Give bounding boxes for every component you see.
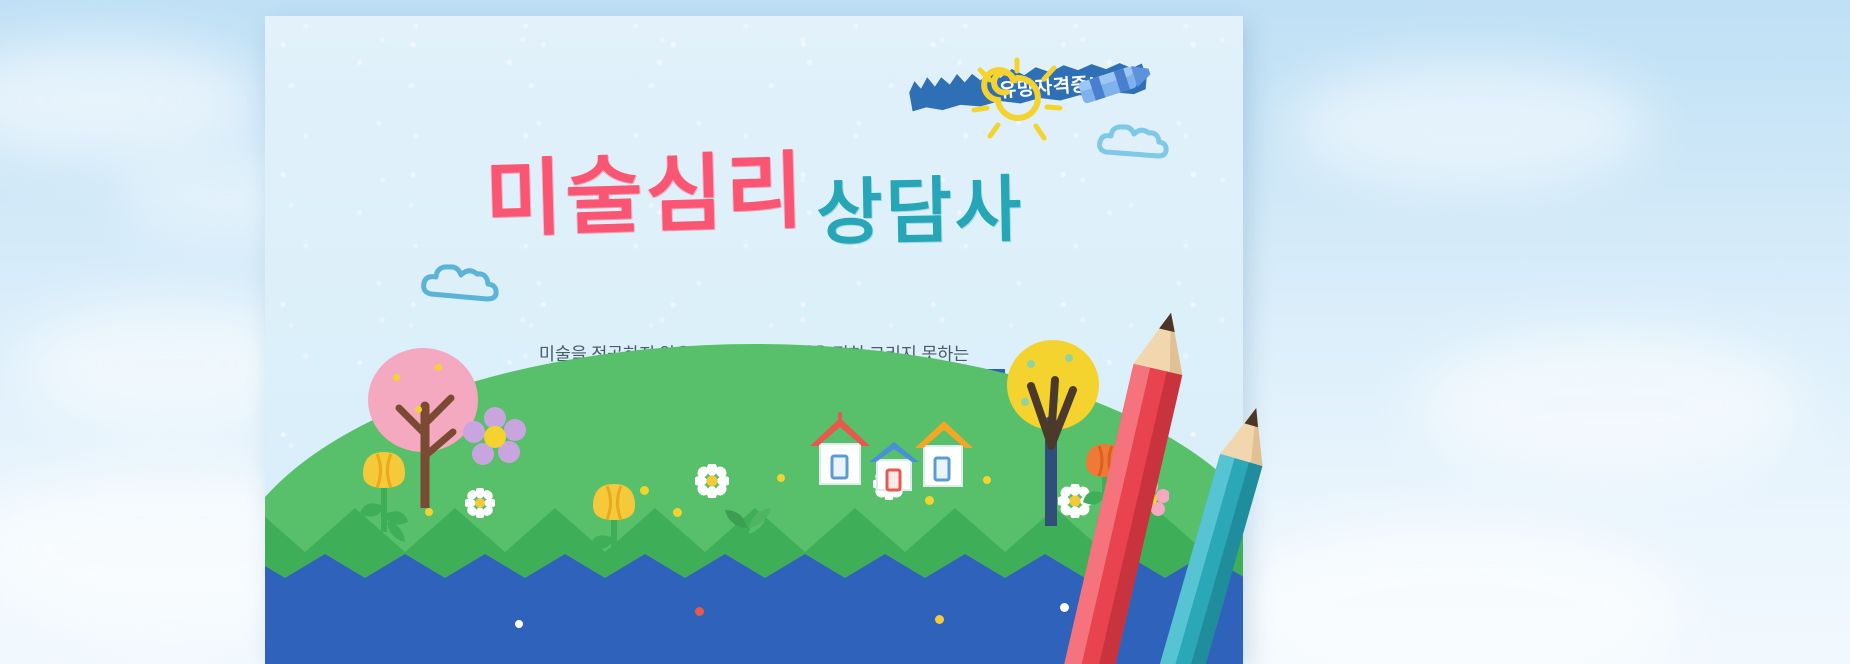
title-main: 미술심리 xyxy=(483,124,807,254)
grass-dot xyxy=(425,508,433,516)
crayon-blue-icon xyxy=(1071,58,1157,106)
water-dot xyxy=(695,607,704,616)
flower-tulip-yellow-2-icon xyxy=(583,468,645,564)
sprout-icon xyxy=(383,510,427,542)
blossom-dot xyxy=(393,374,400,381)
grass-dot xyxy=(777,474,785,482)
sky-haze-5 xyxy=(1420,330,1800,480)
flower-daisy-white-icon xyxy=(695,464,729,498)
cloud-outline-left-icon xyxy=(420,256,506,306)
banner-root: 유망자격증! 미술심리상담사 xyxy=(0,0,1850,664)
water-dot xyxy=(515,620,523,628)
house-orange-roof-icon xyxy=(910,416,978,488)
title-sub: 상담사 xyxy=(815,150,1025,259)
sky-haze-1 xyxy=(0,40,260,160)
flower-purple-round-icon xyxy=(461,406,529,472)
grass-dot xyxy=(640,486,649,495)
pencil-teal-icon xyxy=(1138,392,1308,664)
grass-dot xyxy=(673,508,682,517)
flower-daisy-white-icon xyxy=(465,488,495,518)
blossom-dot xyxy=(435,364,442,371)
grass-dot xyxy=(925,496,934,505)
blossom-dot xyxy=(415,406,422,413)
leaf-pair-icon xyxy=(721,498,773,532)
grass-dot xyxy=(983,476,991,484)
sky-haze-4 xyxy=(1290,60,1650,190)
water-dot xyxy=(935,615,944,624)
page-title: 미술심리상담사 xyxy=(265,128,1243,249)
